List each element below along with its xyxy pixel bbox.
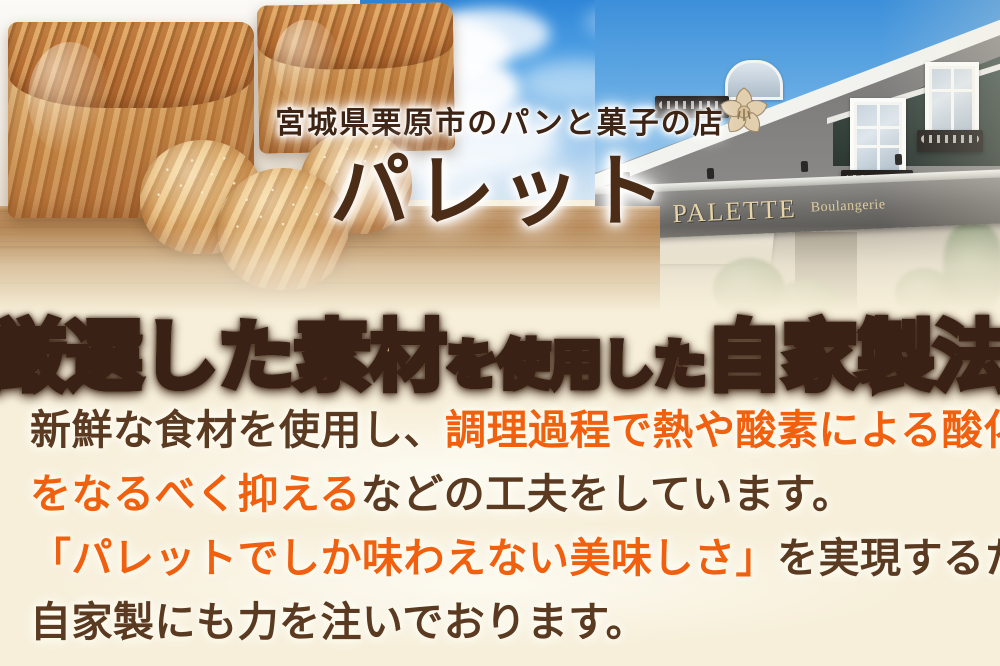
headline-segment-1: 厳選した素材 bbox=[0, 295, 446, 405]
copy-line: 自家製にも力を注いでおります。 bbox=[30, 590, 1000, 654]
headline-segment-3: 自家製法 bbox=[706, 295, 1000, 405]
shop-subtitle: 宮城県栗原市のパンと菓子の店 bbox=[0, 98, 1000, 142]
copy-line: 新鮮な食材を使用し、調理過程で熱や酸素による酸化 bbox=[30, 398, 1000, 462]
copy-span: などの工夫をしています。 bbox=[361, 471, 854, 517]
copy-line: をなるべく抑えるなどの工夫をしています。 bbox=[30, 462, 1000, 526]
brand-name-title: パレット bbox=[0, 150, 1000, 234]
body-copy: 新鮮な食材を使用し、調理過程で熱や酸素による酸化 をなるべく抑えるなどの工夫をし… bbox=[0, 398, 1000, 666]
copy-span: 「パレットでしか味わえない美味しさ」 bbox=[30, 535, 777, 581]
headline-segments: 厳選した素材 を使用した 自家製法 bbox=[0, 295, 1000, 405]
copy-span: を実現するため、 bbox=[777, 535, 1000, 581]
copy-span: 調理過程で熱や酸素による酸化 bbox=[445, 407, 1000, 453]
copy-span: 自家製にも力を注いでおります。 bbox=[30, 599, 647, 645]
headline-segment-2: を使用した bbox=[446, 323, 706, 398]
copy-line: 「パレットでしか味わえない美味しさ」を実現するため、 bbox=[30, 526, 1000, 590]
gold-headline: 厳選した素材 を使用した 自家製法 bbox=[0, 305, 1000, 395]
copy-span: をなるべく抑える bbox=[30, 471, 361, 517]
copy-span: 新鮮な食材を使用し、 bbox=[30, 407, 445, 453]
title-overlay: 宮城県栗原市のパンと菓子の店 パレット bbox=[0, 0, 1000, 312]
advertisement-banner: erie PALETTE Boulangerie 宮城県栗原市のパンと菓子の店 … bbox=[0, 0, 1000, 666]
